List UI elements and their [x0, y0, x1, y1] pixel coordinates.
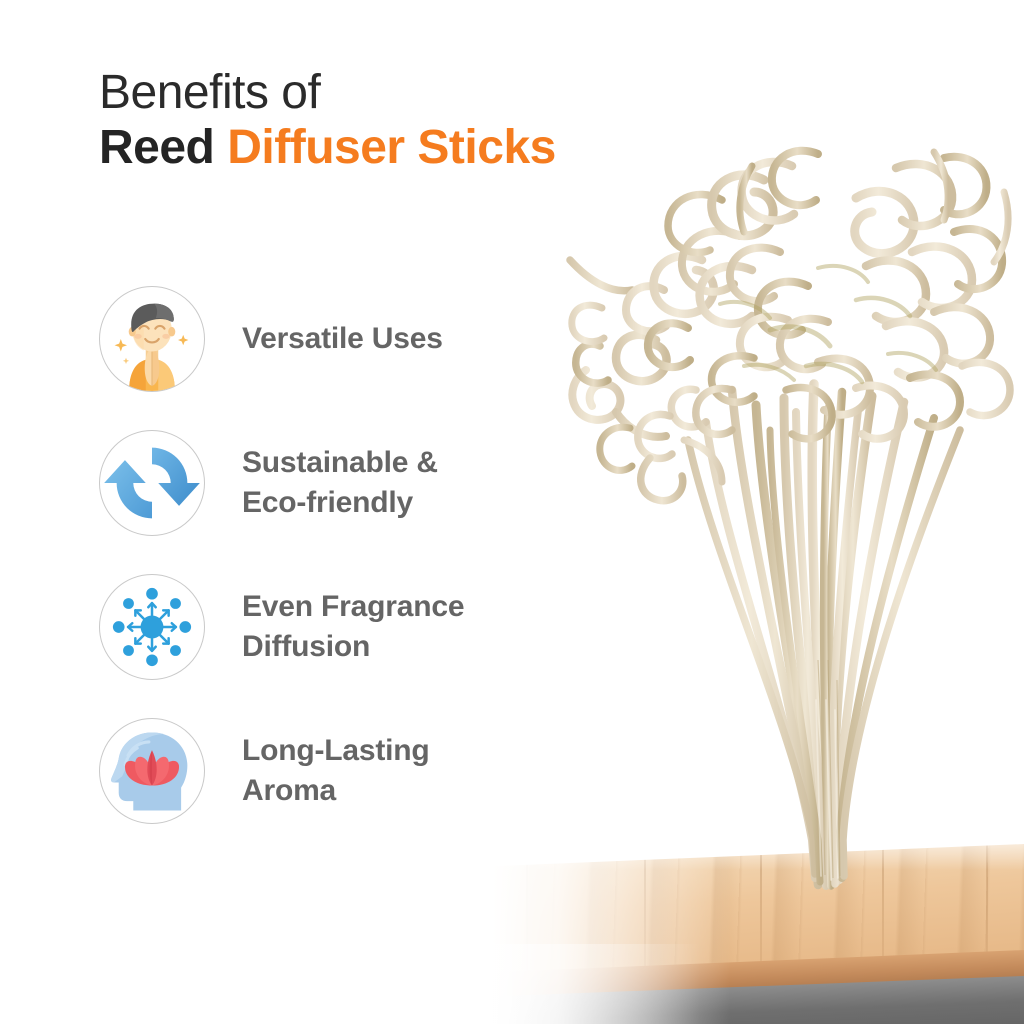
list-item: Long-Lasting Aroma	[99, 716, 619, 826]
list-item-label: Sustainable & Eco-friendly	[242, 443, 438, 522]
list-item-label: Versatile Uses	[242, 319, 443, 359]
list-item: Sustainable & Eco-friendly	[99, 428, 619, 538]
head-lotus-icon	[99, 718, 205, 824]
table-plank-seam	[526, 865, 528, 977]
page-title: Benefits of Reed Diffuser Sticks	[99, 69, 719, 177]
recycle-arrows-icon	[99, 430, 205, 536]
list-item-label: Long-Lasting Aroma	[242, 731, 430, 810]
title-word-reed: Reed	[99, 121, 227, 174]
title-line-2: Reed Diffuser Sticks	[99, 118, 719, 178]
list-item: Versatile Uses	[99, 284, 619, 394]
benefits-list: Versatile Uses	[99, 284, 619, 826]
title-words-diffuser-sticks: Diffuser Sticks	[227, 121, 556, 174]
meditating-person-icon	[99, 286, 205, 392]
list-item-label: Even Fragrance Diffusion	[242, 587, 464, 666]
benefits-poster: Benefits of Reed Diffuser Sticks	[0, 0, 1024, 1024]
list-item: Even Fragrance Diffusion	[99, 572, 619, 682]
fragrance-diffusion-icon	[99, 574, 205, 680]
title-line-1: Benefits of	[99, 69, 719, 118]
reed-diffuser-sticks	[556, 140, 1024, 930]
